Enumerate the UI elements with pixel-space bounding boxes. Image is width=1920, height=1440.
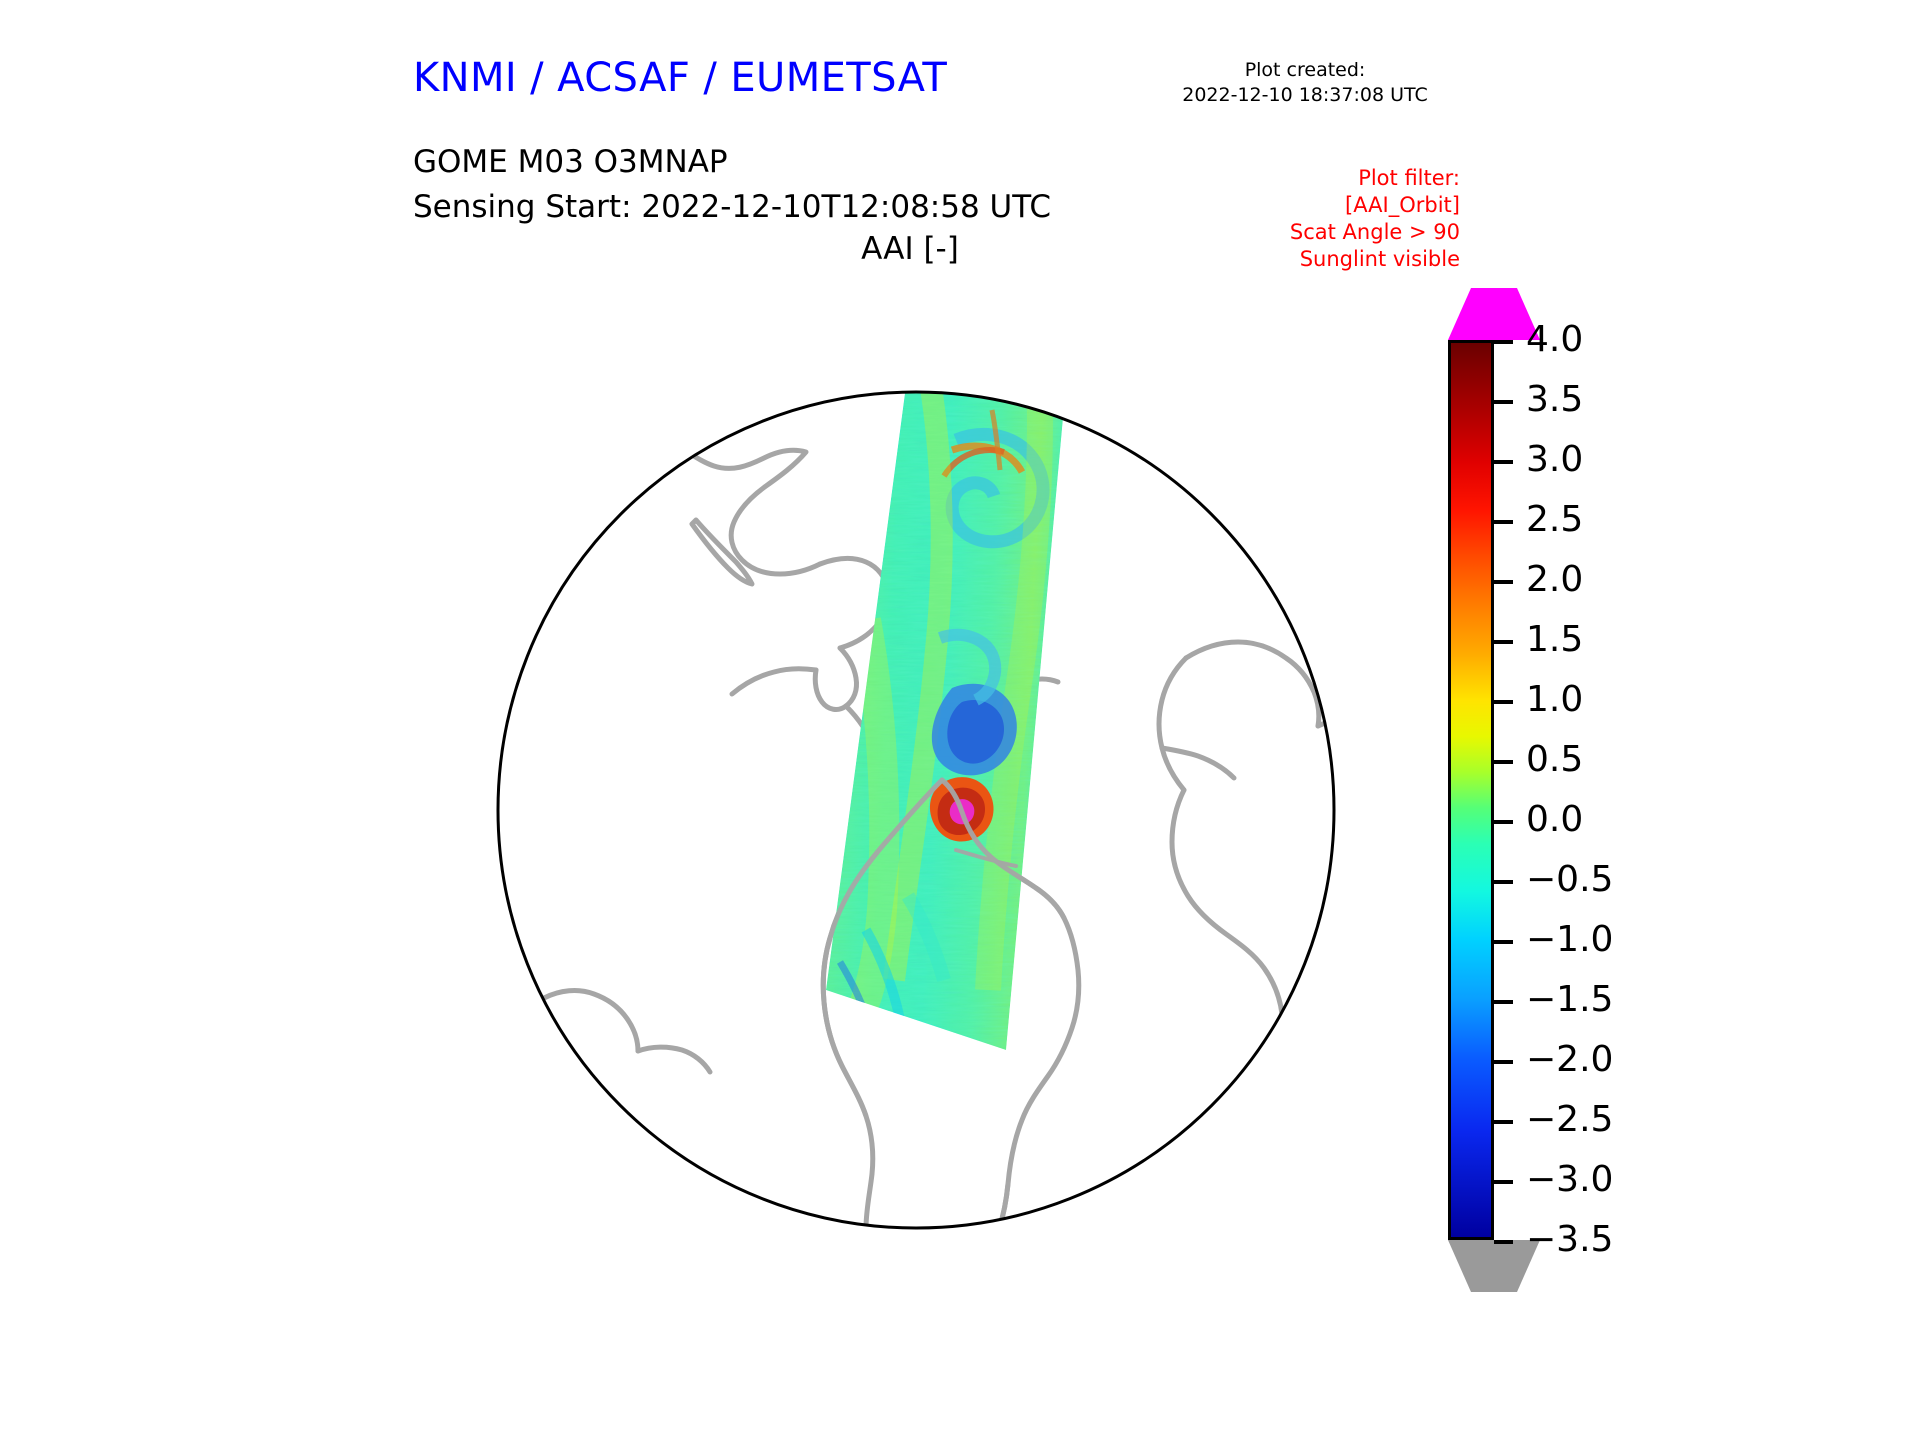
plot-created-block: Plot created: 2022-12-10 18:37:08 UTC	[1160, 58, 1450, 108]
filter-line-2: Scat Angle > 90	[1170, 219, 1460, 246]
colorbar-tick	[1494, 460, 1513, 464]
colorbar-tick	[1494, 940, 1513, 944]
colorbar-tick	[1494, 340, 1513, 344]
colorbar-tick-label: 4.0	[1526, 322, 1583, 358]
colorbar-tick	[1494, 400, 1513, 404]
colorbar-tick	[1494, 700, 1513, 704]
plot-created-label: Plot created:	[1160, 58, 1450, 83]
colorbar-tick-label: 3.0	[1526, 442, 1583, 478]
colorbar-tick	[1494, 520, 1513, 524]
colorbar-tick-label: −2.0	[1526, 1042, 1613, 1078]
colorbar-tick-label: 0.5	[1526, 742, 1583, 778]
globe-svg	[396, 290, 1436, 1330]
colorbar-tick-label: 0.0	[1526, 802, 1583, 838]
product-info-block: GOME M03 O3MNAP Sensing Start: 2022-12-1…	[413, 140, 1051, 230]
plot-filter-block: Plot filter: [AAI_Orbit] Scat Angle > 90…	[1170, 165, 1460, 273]
product-name: GOME M03 O3MNAP	[413, 140, 1051, 185]
colorbar-tick-label: 1.5	[1526, 622, 1583, 658]
colorbar-tick-label: 2.5	[1526, 502, 1583, 538]
colorbar[interactable]: 4.03.53.02.52.01.51.00.50.0−0.5−1.0−1.5−…	[1448, 288, 1808, 1308]
plot-created-timestamp: 2022-12-10 18:37:08 UTC	[1160, 83, 1450, 108]
colorbar-tick	[1494, 760, 1513, 764]
filter-line-3: Sunglint visible	[1170, 246, 1460, 273]
colorbar-tick-label: 3.5	[1526, 382, 1583, 418]
colorbar-tick	[1494, 640, 1513, 644]
colorbar-tick	[1494, 1120, 1513, 1124]
colorbar-tick-label: −2.5	[1526, 1102, 1613, 1138]
quantity-label: AAI [-]	[740, 231, 1080, 267]
orthographic-globe	[396, 290, 1436, 1330]
sensing-start: Sensing Start: 2022-12-10T12:08:58 UTC	[413, 185, 1051, 230]
colorbar-tick	[1494, 1000, 1513, 1004]
colorbar-tick	[1494, 1180, 1513, 1184]
colorbar-tick-label: −1.5	[1526, 982, 1613, 1018]
colorbar-tick	[1494, 1240, 1513, 1244]
colorbar-tick-label: −1.0	[1526, 922, 1613, 958]
colorbar-tick	[1494, 1060, 1513, 1064]
filter-title: Plot filter:	[1170, 165, 1460, 192]
colorbar-gradient	[1451, 343, 1491, 1237]
colorbar-tick-label: −3.5	[1526, 1222, 1613, 1258]
colorbar-tick-label: 2.0	[1526, 562, 1583, 598]
colorbar-tick	[1494, 820, 1513, 824]
filter-line-1: [AAI_Orbit]	[1170, 192, 1460, 219]
colorbar-tick	[1494, 580, 1513, 584]
colorbar-tick-label: −0.5	[1526, 862, 1613, 898]
colorbar-tick	[1494, 880, 1513, 884]
colorbar-tick-label: −3.0	[1526, 1162, 1613, 1198]
colorbar-body[interactable]	[1448, 340, 1494, 1240]
organisation-title: KNMI / ACSAF / EUMETSAT	[413, 55, 947, 101]
colorbar-tick-label: 1.0	[1526, 682, 1583, 718]
